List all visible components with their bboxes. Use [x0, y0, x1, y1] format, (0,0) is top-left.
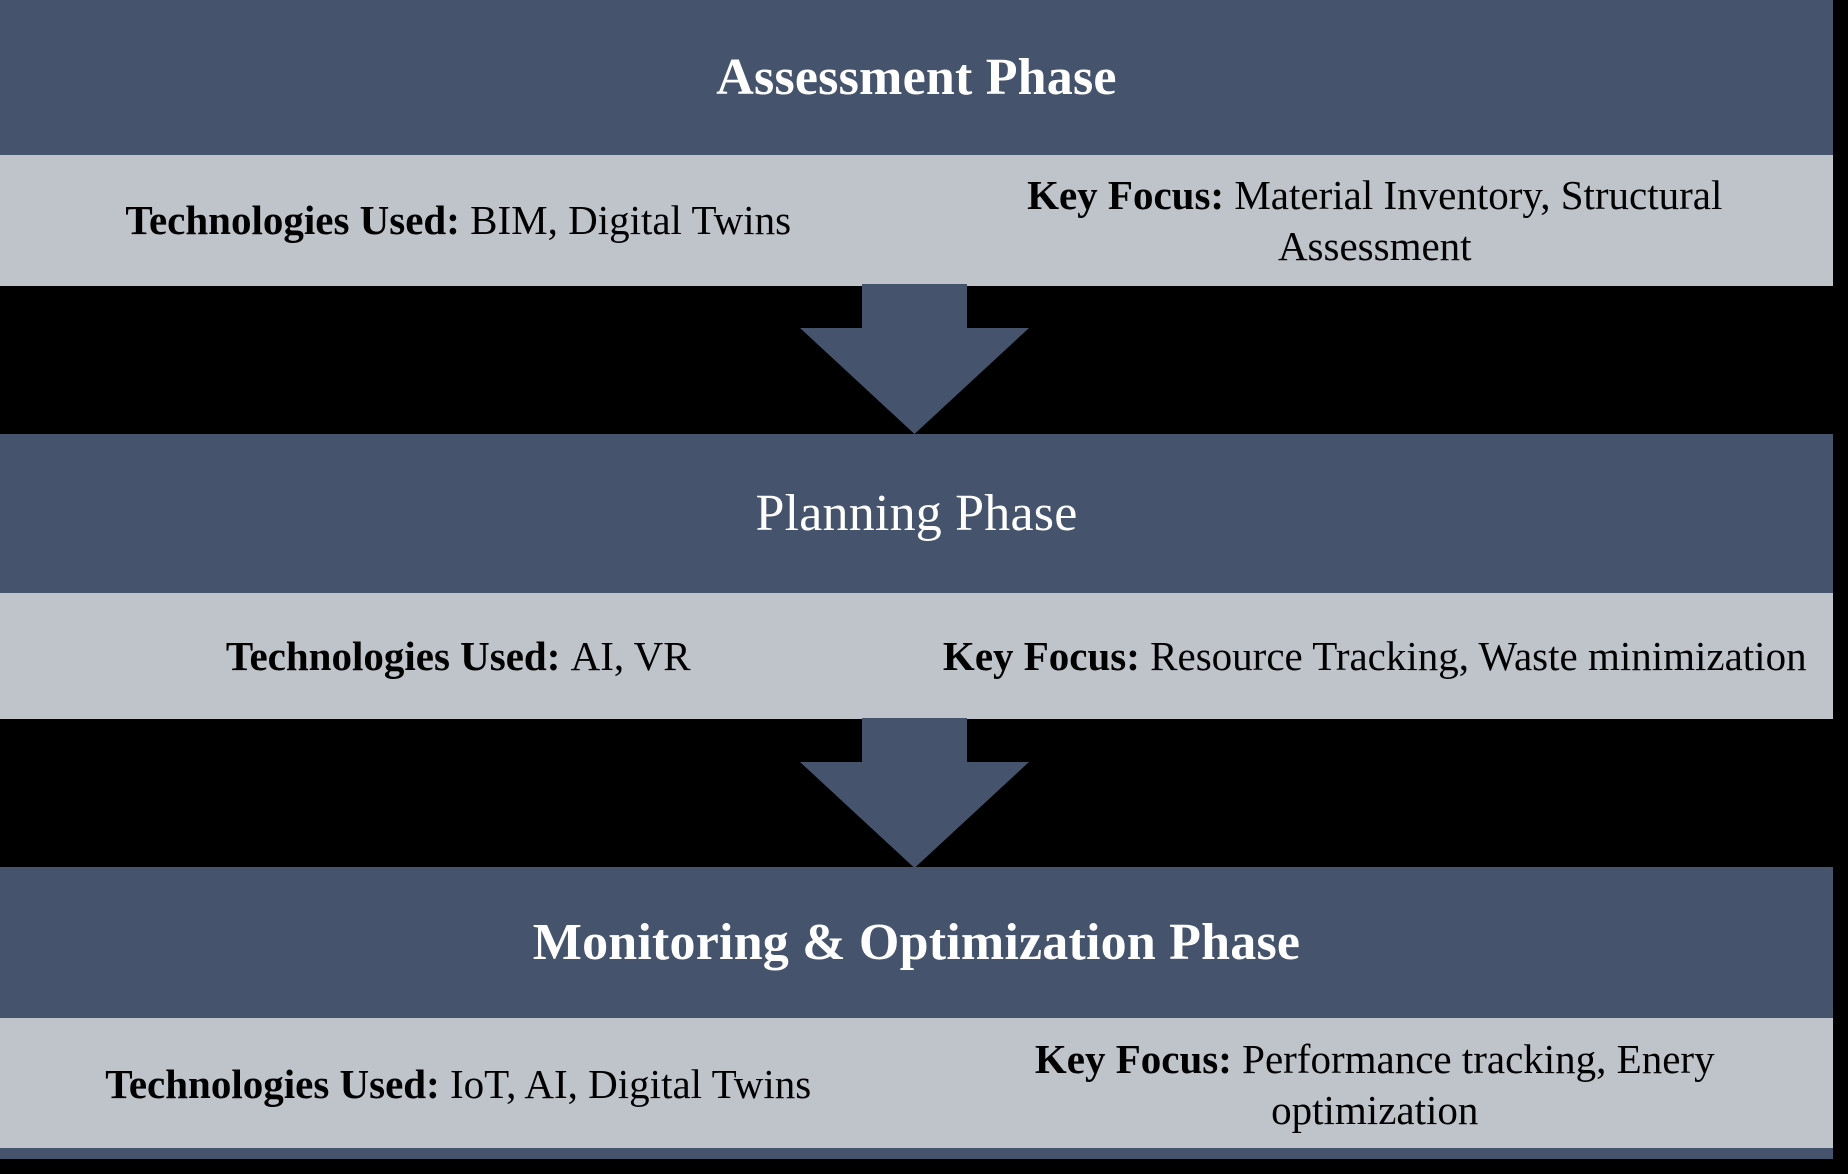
phase-title: Assessment Phase — [716, 49, 1116, 106]
key-focus-label: Key Focus: — [1027, 172, 1224, 218]
arrow-assessment-to-planning-icon — [800, 284, 1029, 434]
phase-body-monitoring: Technologies Used: IoT, AI, Digital Twin… — [0, 1018, 1833, 1151]
technologies-value: BIM, Digital Twins — [470, 197, 791, 243]
key-focus-cell-monitoring: Key Focus: Performance tracking, Enery o… — [917, 1018, 1834, 1151]
phase-body-planning: Technologies Used: AI, VR Key Focus: Res… — [0, 593, 1833, 719]
key-focus-cell-planning: Key Focus: Resource Tracking, Waste mini… — [917, 593, 1834, 719]
arrow-planning-to-monitoring-icon — [800, 718, 1029, 868]
technologies-label: Technologies Used: — [105, 1061, 440, 1107]
technologies-cell-monitoring: Technologies Used: IoT, AI, Digital Twin… — [0, 1018, 917, 1151]
technologies-value: IoT, AI, Digital Twins — [450, 1061, 811, 1107]
key-focus-label: Key Focus: — [1035, 1036, 1232, 1082]
bottom-divider — [0, 1148, 1833, 1159]
phase-header-assessment: Assessment Phase — [0, 0, 1833, 155]
key-focus-cell-assessment: Key Focus: Material Inventory, Structura… — [917, 155, 1834, 286]
phase-title: Planning Phase — [755, 485, 1077, 542]
technologies-cell-planning: Technologies Used: AI, VR — [0, 593, 917, 719]
phase-body-assessment: Technologies Used: BIM, Digital Twins Ke… — [0, 155, 1833, 286]
phase-block-assessment: Assessment Phase Technologies Used: BIM,… — [0, 0, 1833, 286]
key-focus-value: Resource Tracking, Waste minimization — [1150, 633, 1806, 679]
key-focus-value: Performance tracking, Enery optimization — [1242, 1036, 1714, 1133]
diagram-canvas: Assessment Phase Technologies Used: BIM,… — [0, 0, 1848, 1174]
phase-title: Monitoring & Optimization Phase — [533, 914, 1300, 971]
key-focus-value: Material Inventory, Structural Assessmen… — [1234, 172, 1722, 269]
phase-header-monitoring: Monitoring & Optimization Phase — [0, 867, 1833, 1018]
technologies-label: Technologies Used: — [226, 633, 561, 679]
key-focus-label: Key Focus: — [943, 633, 1140, 679]
technologies-value: AI, VR — [571, 633, 691, 679]
technologies-cell-assessment: Technologies Used: BIM, Digital Twins — [0, 155, 917, 286]
phase-header-planning: Planning Phase — [0, 434, 1833, 593]
technologies-label: Technologies Used: — [125, 197, 460, 243]
phase-block-monitoring: Monitoring & Optimization Phase Technolo… — [0, 867, 1833, 1151]
phase-block-planning: Planning Phase Technologies Used: AI, VR… — [0, 434, 1833, 719]
